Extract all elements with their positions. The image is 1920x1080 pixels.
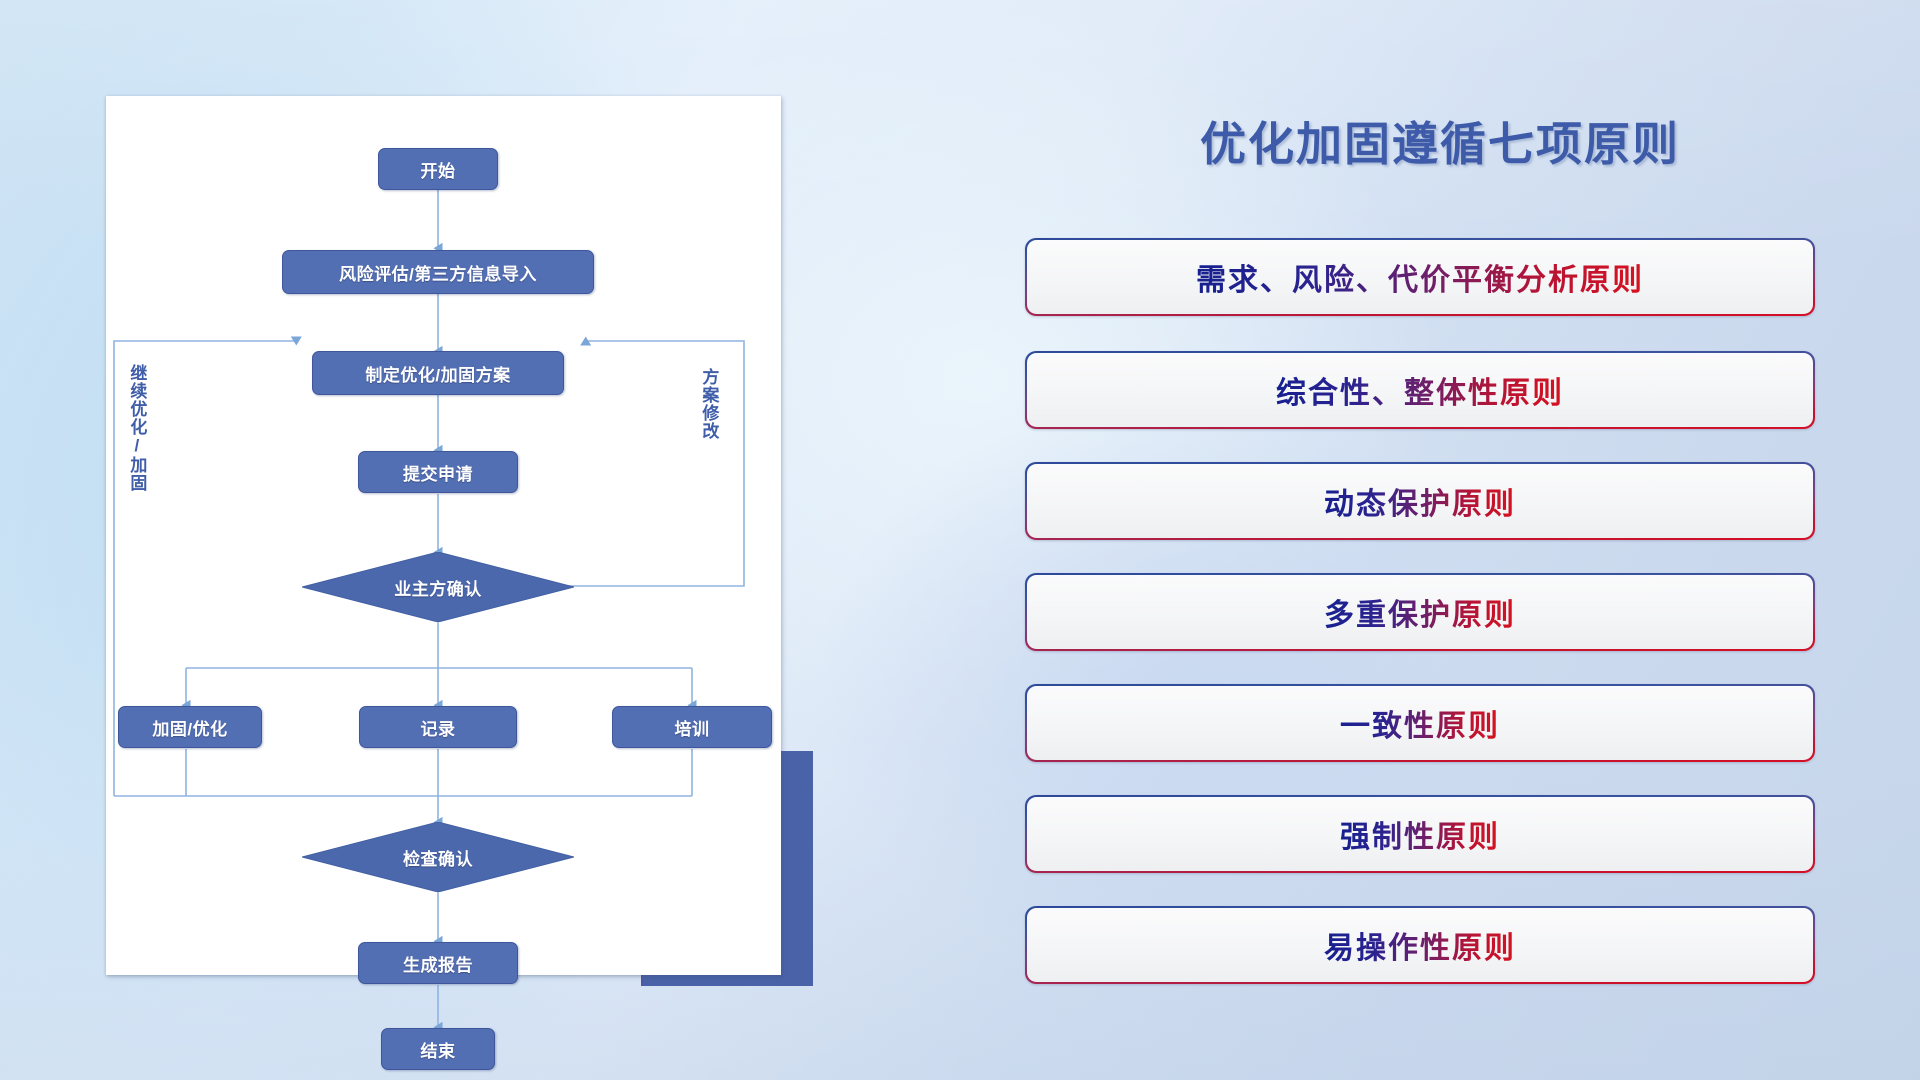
principle-label: 需求、风险、代价平衡分析原则 <box>1196 255 1644 299</box>
flowchart-canvas: 开始 风险评估/第三方信息导入 制定优化/加固方案 提交申请 业主方确认 加固/… <box>106 96 781 975</box>
principle-label: 动态保护原则 <box>1324 479 1516 523</box>
flow-node-risk-assessment[interactable]: 风险评估/第三方信息导入 <box>282 250 594 294</box>
flow-node-owner-confirm[interactable]: 业主方确认 <box>302 552 574 622</box>
principles-section: 优化加固遵循七项原则 需求、风险、代价平衡分析原则 综合性、整体性原则 动态保护… <box>1020 0 1860 1080</box>
page-title: 优化加固遵循七项原则 <box>1020 108 1860 174</box>
edge-label-continue-optimize: 继续优化/加固 <box>128 364 145 492</box>
principle-label: 易操作性原则 <box>1324 923 1516 967</box>
edge-label-plan-revision: 方案修改 <box>700 368 717 440</box>
flow-node-check-confirm[interactable]: 检查确认 <box>302 822 574 892</box>
principle-card-inner: 强制性原则 <box>1027 797 1814 872</box>
principle-card-inner: 多重保护原则 <box>1027 575 1814 650</box>
principle-card[interactable]: 动态保护原则 <box>1025 462 1815 540</box>
flow-node-submit-application[interactable]: 提交申请 <box>358 451 518 493</box>
principle-card-inner: 动态保护原则 <box>1027 464 1814 539</box>
flow-node-training[interactable]: 培训 <box>612 706 772 748</box>
principle-card-inner: 易操作性原则 <box>1027 908 1814 983</box>
principle-card[interactable]: 多重保护原则 <box>1025 573 1815 651</box>
principle-card[interactable]: 需求、风险、代价平衡分析原则 <box>1025 238 1815 316</box>
flow-node-record[interactable]: 记录 <box>359 706 517 748</box>
flow-node-reinforce-optimize[interactable]: 加固/优化 <box>118 706 262 748</box>
principle-label: 一致性原则 <box>1340 701 1500 745</box>
principle-card-inner: 一致性原则 <box>1027 686 1814 761</box>
flow-node-generate-report[interactable]: 生成报告 <box>358 942 518 984</box>
principle-card-inner: 需求、风险、代价平衡分析原则 <box>1027 240 1814 315</box>
slide-canvas: 开始 风险评估/第三方信息导入 制定优化/加固方案 提交申请 业主方确认 加固/… <box>0 0 1920 1080</box>
flow-node-make-plan[interactable]: 制定优化/加固方案 <box>312 351 564 395</box>
principle-card[interactable]: 易操作性原则 <box>1025 906 1815 984</box>
principle-card[interactable]: 综合性、整体性原则 <box>1025 351 1815 429</box>
principle-card-inner: 综合性、整体性原则 <box>1027 353 1814 428</box>
flow-node-end[interactable]: 结束 <box>381 1028 495 1070</box>
principle-card[interactable]: 强制性原则 <box>1025 795 1815 873</box>
principle-card[interactable]: 一致性原则 <box>1025 684 1815 762</box>
flow-node-start[interactable]: 开始 <box>378 148 498 190</box>
principle-label: 综合性、整体性原则 <box>1276 368 1564 412</box>
principle-label: 强制性原则 <box>1340 812 1500 856</box>
principle-label: 多重保护原则 <box>1324 590 1516 634</box>
flowchart-panel: 开始 风险评估/第三方信息导入 制定优化/加固方案 提交申请 业主方确认 加固/… <box>106 96 781 975</box>
